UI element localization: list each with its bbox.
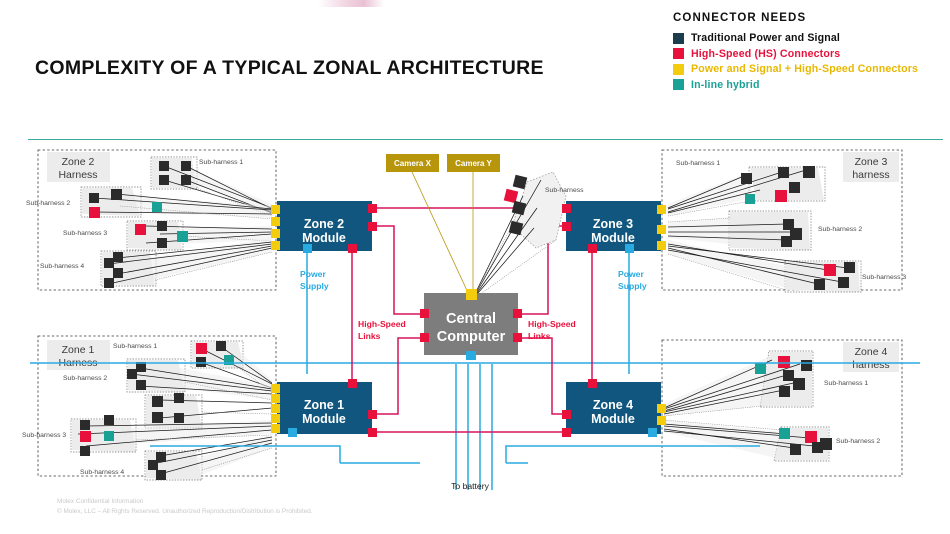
central-computer-label-line1: Central	[446, 311, 496, 327]
zone3-port-hs-1	[562, 204, 571, 213]
zone3-sub1-label: Sub-harness 1	[676, 160, 720, 167]
zone4-port-yellow-2	[657, 416, 666, 425]
camera-x-box[interactable]: Camera X	[386, 154, 439, 172]
zone1-port-yellow-1	[271, 384, 280, 393]
zone1-sub1-label: Sub-harness 1	[113, 343, 157, 350]
zone3-port-hs-2	[562, 222, 571, 231]
zone2-module-label-line2: Module	[302, 231, 346, 245]
zone2-harness-group: Zone 2 Harness Sub-harness 1	[26, 150, 276, 290]
zone4-harness-tag-line1: Zone 4	[855, 346, 888, 358]
zone3-harness-tag-line2: harness	[852, 169, 889, 181]
zone3-harness-tag-line1: Zone 3	[855, 156, 888, 168]
zone2-sub2-label: Sub-harness 2	[26, 200, 70, 207]
central-computer-port-hs-right-2	[513, 333, 522, 342]
power-supply-left-label-line1: Power	[300, 269, 326, 279]
zone1-harness-group: Zone 1 Harness Sub-harness 1	[22, 336, 276, 480]
zone3-module-label-line1: Zone 3	[593, 217, 633, 231]
zone1-port-hs-2	[368, 410, 377, 419]
zone3-sub2-label: Sub-harness 2	[818, 226, 862, 233]
zone3-port-yellow-2	[657, 225, 666, 234]
zone3-port-power	[625, 244, 634, 253]
high-speed-left-label-line2: Links	[358, 331, 381, 341]
zone1-port-yellow-5	[271, 424, 280, 433]
central-computer-port-power	[466, 351, 476, 360]
zone2-port-yellow-1	[271, 205, 280, 214]
footer: Molex Confidential Information © Molex, …	[57, 497, 313, 516]
zone2-harness-tag-line1: Zone 2	[62, 156, 95, 168]
zone1-port-power	[288, 428, 297, 437]
zone4-sub2-label: Sub-harness 2	[836, 438, 880, 445]
zone4-port-hs-2	[562, 410, 571, 419]
zone1-port-hs-1	[348, 379, 357, 388]
footer-line-1: Molex Confidential Information	[57, 497, 313, 507]
zone1-module-label-line2: Module	[302, 412, 346, 426]
zone3-module[interactable]: Zone 3 Module	[562, 201, 666, 253]
zone3-sub3-label: Sub-harness 3	[862, 274, 906, 281]
zone2-port-yellow-4	[271, 241, 280, 250]
zone3-module-label-line2: Module	[591, 231, 635, 245]
power-supply-right-label-line1: Power	[618, 269, 644, 279]
central-computer-label-line2: Computer	[437, 329, 506, 345]
zone2-port-yellow-2	[271, 217, 280, 226]
zone1-port-yellow-4	[271, 414, 280, 423]
zone2-module[interactable]: Zone 2 Module	[271, 201, 377, 253]
central-computer-port-hs-right-1	[513, 309, 522, 318]
zone4-port-hs-3	[562, 428, 571, 437]
zone2-sub3-label: Sub-harness 3	[63, 230, 107, 237]
zone4-port-yellow-1	[657, 404, 666, 413]
camera-subharness-group: Sub-harness	[412, 172, 584, 300]
zone1-sub4-label: Sub-harness 4	[80, 469, 124, 476]
high-speed-right-label-line2: Links	[528, 331, 551, 341]
central-computer[interactable]: Central Computer	[420, 289, 522, 360]
zone1-port-yellow-3	[271, 404, 280, 413]
slide-canvas: COMPLEXITY OF A TYPICAL ZONAL ARCHITECTU…	[0, 0, 950, 534]
central-computer-port-hs-left-2	[420, 333, 429, 342]
power-supply-right-label-line2: Supply	[618, 281, 647, 291]
footer-line-2: © Molex, LLC – All Rights Reserved. Unau…	[57, 507, 313, 517]
zone4-sub1-label: Sub-harness 1	[824, 380, 868, 387]
central-computer-port-hs-left-1	[420, 309, 429, 318]
zone1-module-label-line1: Zone 1	[304, 398, 344, 412]
zone3-port-yellow-1	[657, 205, 666, 214]
zone2-port-yellow-3	[271, 229, 280, 238]
camera-y-box[interactable]: Camera Y	[447, 154, 500, 172]
zone2-sub1-label: Sub-harness 1	[199, 159, 243, 166]
zone2-port-hs-3	[348, 244, 357, 253]
zone4-module[interactable]: Zone 4 Module	[562, 379, 666, 437]
zone3-port-hs-3	[588, 244, 597, 253]
zone4-port-power	[648, 428, 657, 437]
zone2-module-label-line1: Zone 2	[304, 217, 344, 231]
high-speed-left-label-line1: High-Speed	[358, 319, 406, 329]
zone3-port-yellow-3	[657, 241, 666, 250]
zone3-harness-group: Zone 3 harness Sub-harness 1	[662, 150, 906, 292]
zone4-module-label-line2: Module	[591, 412, 635, 426]
zone1-harness-tag-line1: Zone 1	[62, 344, 95, 356]
central-computer-port-hybrid	[466, 289, 477, 300]
zone4-harness-tag-line2: harness	[852, 359, 889, 371]
camera-subharness-label: Sub-harness	[545, 187, 584, 194]
zone1-port-hs-3	[368, 428, 377, 437]
camera-x-label: Camera X	[394, 159, 432, 168]
zone1-sub2-label: Sub-harness 2	[63, 375, 107, 382]
to-battery-label: To battery	[451, 481, 489, 491]
zone2-port-hs-2	[368, 222, 377, 231]
zone2-sub4-label: Sub-harness 4	[40, 263, 84, 270]
zone4-port-hs-1	[588, 379, 597, 388]
zonal-architecture-diagram: .hl{stroke:#1a1a1a;stroke-width:.75;fill…	[0, 0, 950, 534]
zone2-port-hs-1	[368, 204, 377, 213]
zone4-harness-group: Zone 4 harness Sub-harness 1	[662, 340, 902, 476]
camera-y-label: Camera Y	[455, 159, 492, 168]
zone1-sub3-label: Sub-harness 3	[22, 432, 66, 439]
zone2-harness-tag-line2: Harness	[58, 169, 97, 181]
high-speed-right-label-line1: High-Speed	[528, 319, 576, 329]
power-supply-left-label-line2: Supply	[300, 281, 329, 291]
zone4-module-label-line1: Zone 4	[593, 398, 633, 412]
zone1-module[interactable]: Zone 1 Module	[271, 379, 377, 437]
zone2-port-power	[303, 244, 312, 253]
zone1-port-yellow-2	[271, 394, 280, 403]
